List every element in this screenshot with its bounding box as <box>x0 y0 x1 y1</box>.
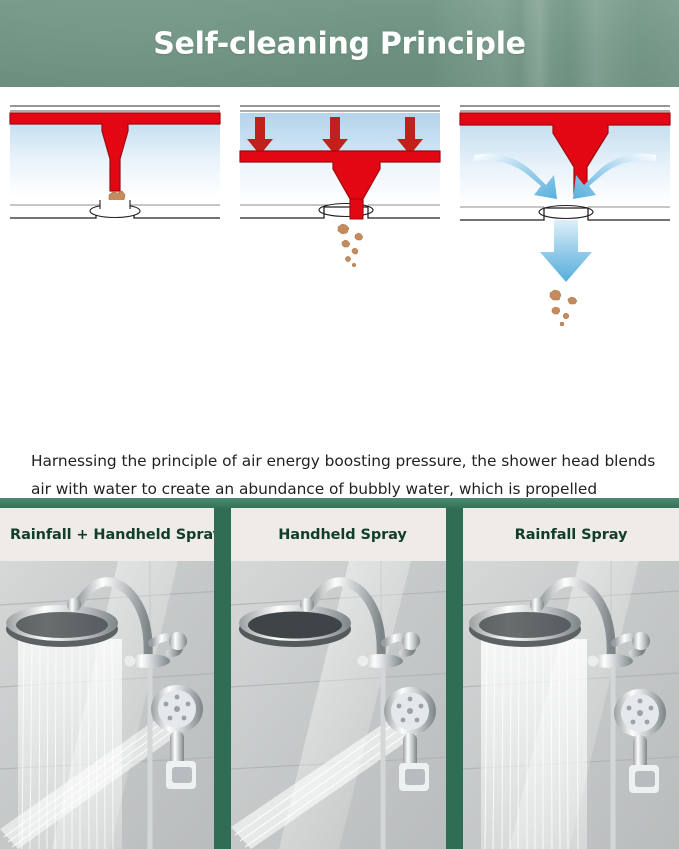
diagram-panel-clogged <box>8 87 222 237</box>
diagram-panel-flush <box>458 87 672 327</box>
cell-right-edge <box>214 508 222 849</box>
gallery-cells: Rainfall + Handheld Spray <box>0 508 679 849</box>
gallery-cell-rainfall-handheld[interactable]: Rainfall + Handheld Spray <box>0 508 222 849</box>
gallery-label-rainfall: Rainfall Spray <box>463 508 679 561</box>
head-swivel-joint <box>300 598 314 612</box>
cell-right-edge <box>446 508 454 849</box>
spray-mode-gallery: Rainfall + Handheld Spray <box>0 498 679 849</box>
handheld-outlet-cap <box>632 632 650 650</box>
gallery-photo-rainfall-handheld <box>0 561 222 849</box>
gallery-label-handheld: Handheld Spray <box>231 508 454 561</box>
gallery-photo-rainfall <box>463 561 679 849</box>
nozzle-ring <box>319 204 373 217</box>
page-header: Self-cleaning Principle <box>0 0 679 87</box>
product-infographic-page: Self-cleaning Principle <box>0 0 679 849</box>
head-swivel-joint <box>67 598 81 612</box>
self-cleaning-diagram-strip: Harnessing the principle of air energy b… <box>0 87 679 487</box>
diverter-knob <box>125 656 136 667</box>
flush-arrow-down <box>540 220 592 282</box>
gallery-label-rainfall-handheld: Rainfall + Handheld Spray <box>0 508 222 561</box>
head-swivel-joint <box>530 598 544 612</box>
cell-divider-1 <box>222 508 231 849</box>
expelled-debris <box>550 290 577 326</box>
diagram-panel-pressure <box>238 87 442 287</box>
rainfall-water-stream <box>481 639 587 849</box>
gallery-cell-handheld[interactable]: Handheld Spray <box>231 508 454 849</box>
cell-divider-2 <box>454 508 463 849</box>
rainfall-head-nozzles <box>248 612 342 639</box>
handheld-outlet-cap <box>169 632 187 650</box>
gallery-cell-rainfall[interactable]: Rainfall Spray <box>463 508 679 849</box>
red-jet-through-nozzle <box>350 199 363 219</box>
page-title: Self-cleaning Principle <box>0 26 679 61</box>
rainfall-head-nozzles <box>479 612 571 638</box>
nozzle-bore-fill <box>100 200 130 209</box>
handheld-outlet-cap <box>402 632 420 650</box>
expelled-debris <box>338 224 363 267</box>
gallery-photo-handheld <box>231 561 454 849</box>
diverter-knob <box>358 656 369 667</box>
rainfall-head-nozzles <box>16 612 108 638</box>
diverter-knob <box>588 656 599 667</box>
